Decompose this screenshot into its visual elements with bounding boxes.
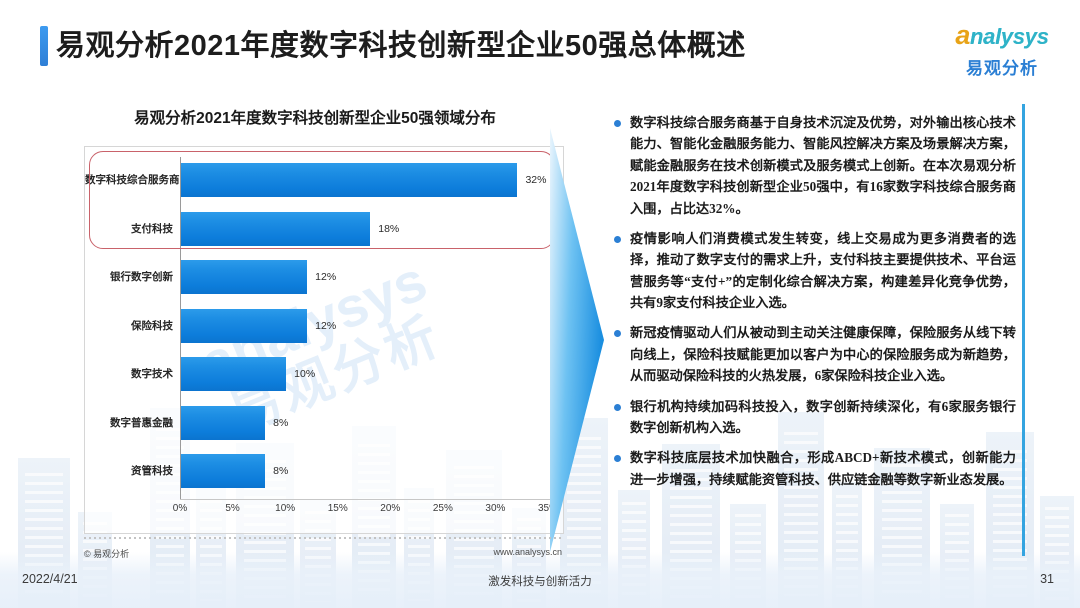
logo-a-glyph: a: [955, 20, 970, 50]
bar-category-label: 支付科技: [85, 206, 173, 252]
slide: 易观分析2021年度数字科技创新型企业50强总体概述 analysys 易观分析…: [0, 0, 1080, 608]
chart-title: 易观分析2021年度数字科技创新型企业50强领域分布: [60, 106, 570, 128]
page-title: 易观分析2021年度数字科技创新型企业50强总体概述: [56, 22, 746, 64]
bar-category-label: 保险科技: [85, 303, 173, 349]
bar-value-label: 18%: [378, 206, 399, 252]
title-accent-bar: [40, 26, 48, 66]
bar-row: 数字科技综合服务商32%: [85, 157, 555, 203]
right-accent-rule: [1022, 104, 1025, 556]
x-tick-label: 15%: [328, 503, 348, 514]
analysys-logo: analysys 易观分析: [942, 22, 1062, 79]
bar-value-label: 12%: [315, 254, 336, 300]
bullet-item: 疫情影响人们消费模式发生转变，线上交易成为更多消费者的选择，推动了数字支付的需求…: [612, 228, 1016, 314]
bar-row: 数字技术10%: [85, 351, 555, 397]
slide-footer: 2022/4/21 激发科技与创新活力 31: [0, 556, 1080, 608]
bar-category-label: 数字科技综合服务商: [85, 157, 173, 203]
bullet-item: 新冠疫情驱动人们从被动到主动关注健康保障，保险服务从线下转向线上，保险科技赋能更…: [612, 322, 1016, 386]
bar-value-label: 8%: [273, 448, 288, 494]
x-tick-label: 5%: [225, 503, 239, 514]
bullet-item: 数字科技底层技术加快融合，形成ABCD+新技术模式，创新能力进一步增强，持续赋能…: [612, 447, 1016, 490]
bar: [181, 260, 307, 294]
x-tick-label: 0%: [173, 503, 187, 514]
footer-tagline: 激发科技与创新活力: [0, 573, 1080, 589]
footer-page-number: 31: [1040, 572, 1054, 586]
bar-row: 银行数字创新12%: [85, 254, 555, 300]
x-tick-label: 10%: [275, 503, 295, 514]
bar-row: 支付科技18%: [85, 206, 555, 252]
logo-wordmark: analysys: [942, 22, 1062, 49]
bar: [181, 454, 265, 488]
bar-value-label: 10%: [294, 351, 315, 397]
bar-value-label: 32%: [525, 157, 546, 203]
bullet-item: 银行机构持续加码科技投入，数字创新持续深化，有6家服务银行数字创新机构入选。: [612, 396, 1016, 439]
bar-row: 资管科技8%: [85, 448, 555, 494]
bar-category-label: 数字普惠金融: [85, 400, 173, 446]
x-tick-label: 30%: [485, 503, 505, 514]
bar: [181, 357, 286, 391]
bar-category-label: 资管科技: [85, 448, 173, 494]
chart-footer-dotted-rule: [84, 537, 562, 539]
bar-plot-area: 数字科技综合服务商32%支付科技18%银行数字创新12%保险科技12%数字技术1…: [85, 147, 563, 533]
x-axis-line: [180, 499, 550, 500]
bar: [181, 309, 307, 343]
logo-word-rest: nalysys: [970, 24, 1049, 49]
slide-header: 易观分析2021年度数字科技创新型企业50强总体概述: [0, 0, 1080, 90]
bar-value-label: 8%: [273, 400, 288, 446]
bar-category-label: 银行数字创新: [85, 254, 173, 300]
logo-chinese-name: 易观分析: [942, 54, 1062, 79]
bullet-list: 数字科技综合服务商基于自身技术沉淀及优势，对外输出核心技术能力、智能化金融服务能…: [612, 112, 1016, 499]
bar: [181, 212, 370, 246]
bar-value-label: 12%: [315, 303, 336, 349]
x-tick-label: 25%: [433, 503, 453, 514]
bar-row: 数字普惠金融8%: [85, 400, 555, 446]
chart-panel: analysys 易观分析 数字科技综合服务商32%支付科技18%银行数字创新1…: [84, 146, 564, 534]
bullet-item: 数字科技综合服务商基于自身技术沉淀及优势，对外输出核心技术能力、智能化金融服务能…: [612, 112, 1016, 219]
x-axis-ticks: 0%5%10%15%20%25%30%35%: [85, 503, 563, 523]
blue-arrow-icon: [548, 118, 606, 558]
x-tick-label: 20%: [380, 503, 400, 514]
bar: [181, 406, 265, 440]
bar-row: 保险科技12%: [85, 303, 555, 349]
bar: [181, 163, 517, 197]
bar-category-label: 数字技术: [85, 351, 173, 397]
